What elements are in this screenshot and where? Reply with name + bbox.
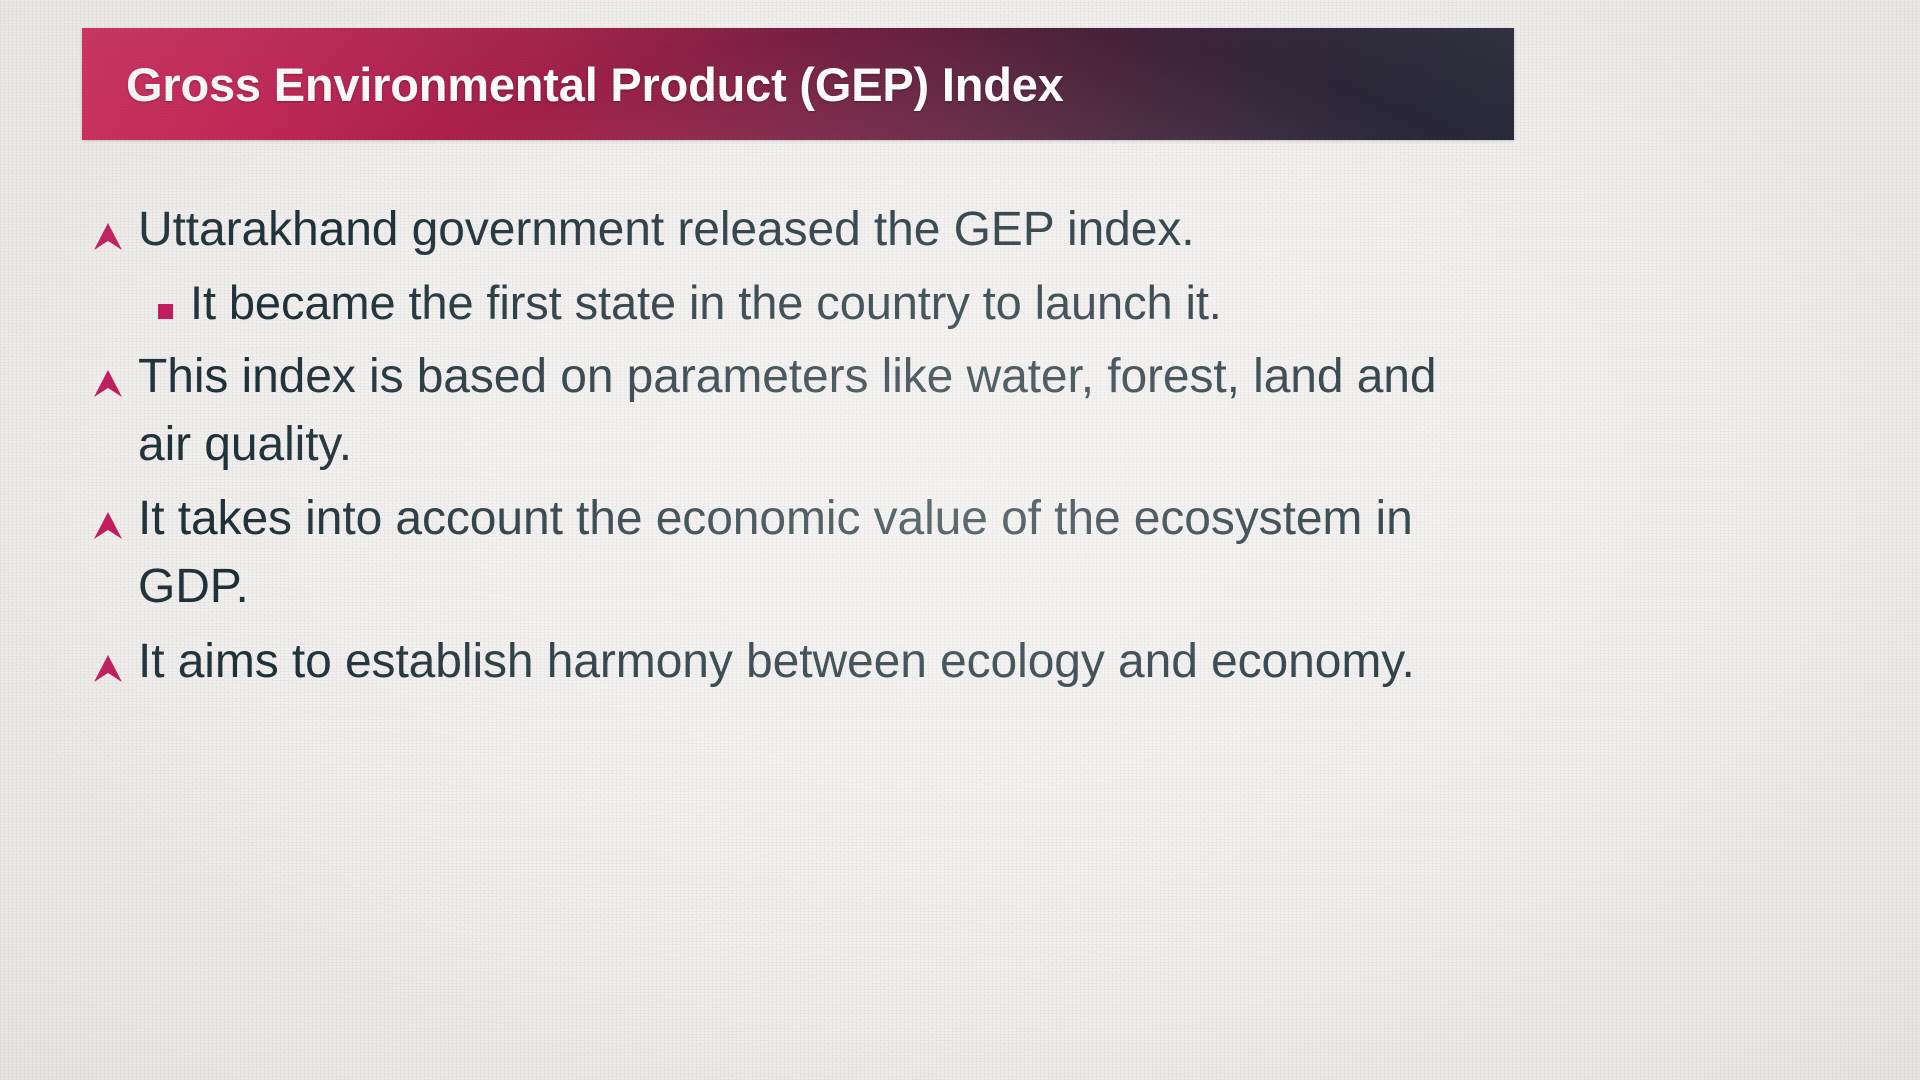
slide-title: Gross Environmental Product (GEP) Index (82, 57, 1064, 112)
bullet-item: Uttarakhand government released the GEP … (78, 196, 1858, 264)
bullet-item: It takes into account the economic value… (78, 485, 1858, 621)
bullet-item: It aims to establish harmony between eco… (78, 628, 1858, 696)
slide-title-banner: Gross Environmental Product (GEP) Index (82, 28, 1514, 140)
bullet-text: It takes into account the economic value… (138, 485, 1448, 621)
sub-bullet-item: It became the first state in the country… (140, 270, 1858, 337)
square-bullet-icon (140, 270, 190, 319)
arrowhead-bullet-icon (78, 196, 138, 252)
presentation-slide: Gross Environmental Product (GEP) Index … (0, 0, 1920, 1080)
bullet-item: This index is based on parameters like w… (78, 343, 1858, 479)
sub-bullet-text: It became the first state in the country… (190, 270, 1222, 337)
arrowhead-bullet-icon (78, 343, 138, 399)
bullet-text: It aims to establish harmony between eco… (138, 628, 1415, 696)
arrowhead-bullet-icon (78, 485, 138, 541)
slide-body-bullet-list: Uttarakhand government released the GEP … (78, 196, 1858, 702)
bullet-text: This index is based on parameters like w… (138, 343, 1448, 479)
bullet-text: Uttarakhand government released the GEP … (138, 196, 1195, 264)
arrowhead-bullet-icon (78, 628, 138, 684)
